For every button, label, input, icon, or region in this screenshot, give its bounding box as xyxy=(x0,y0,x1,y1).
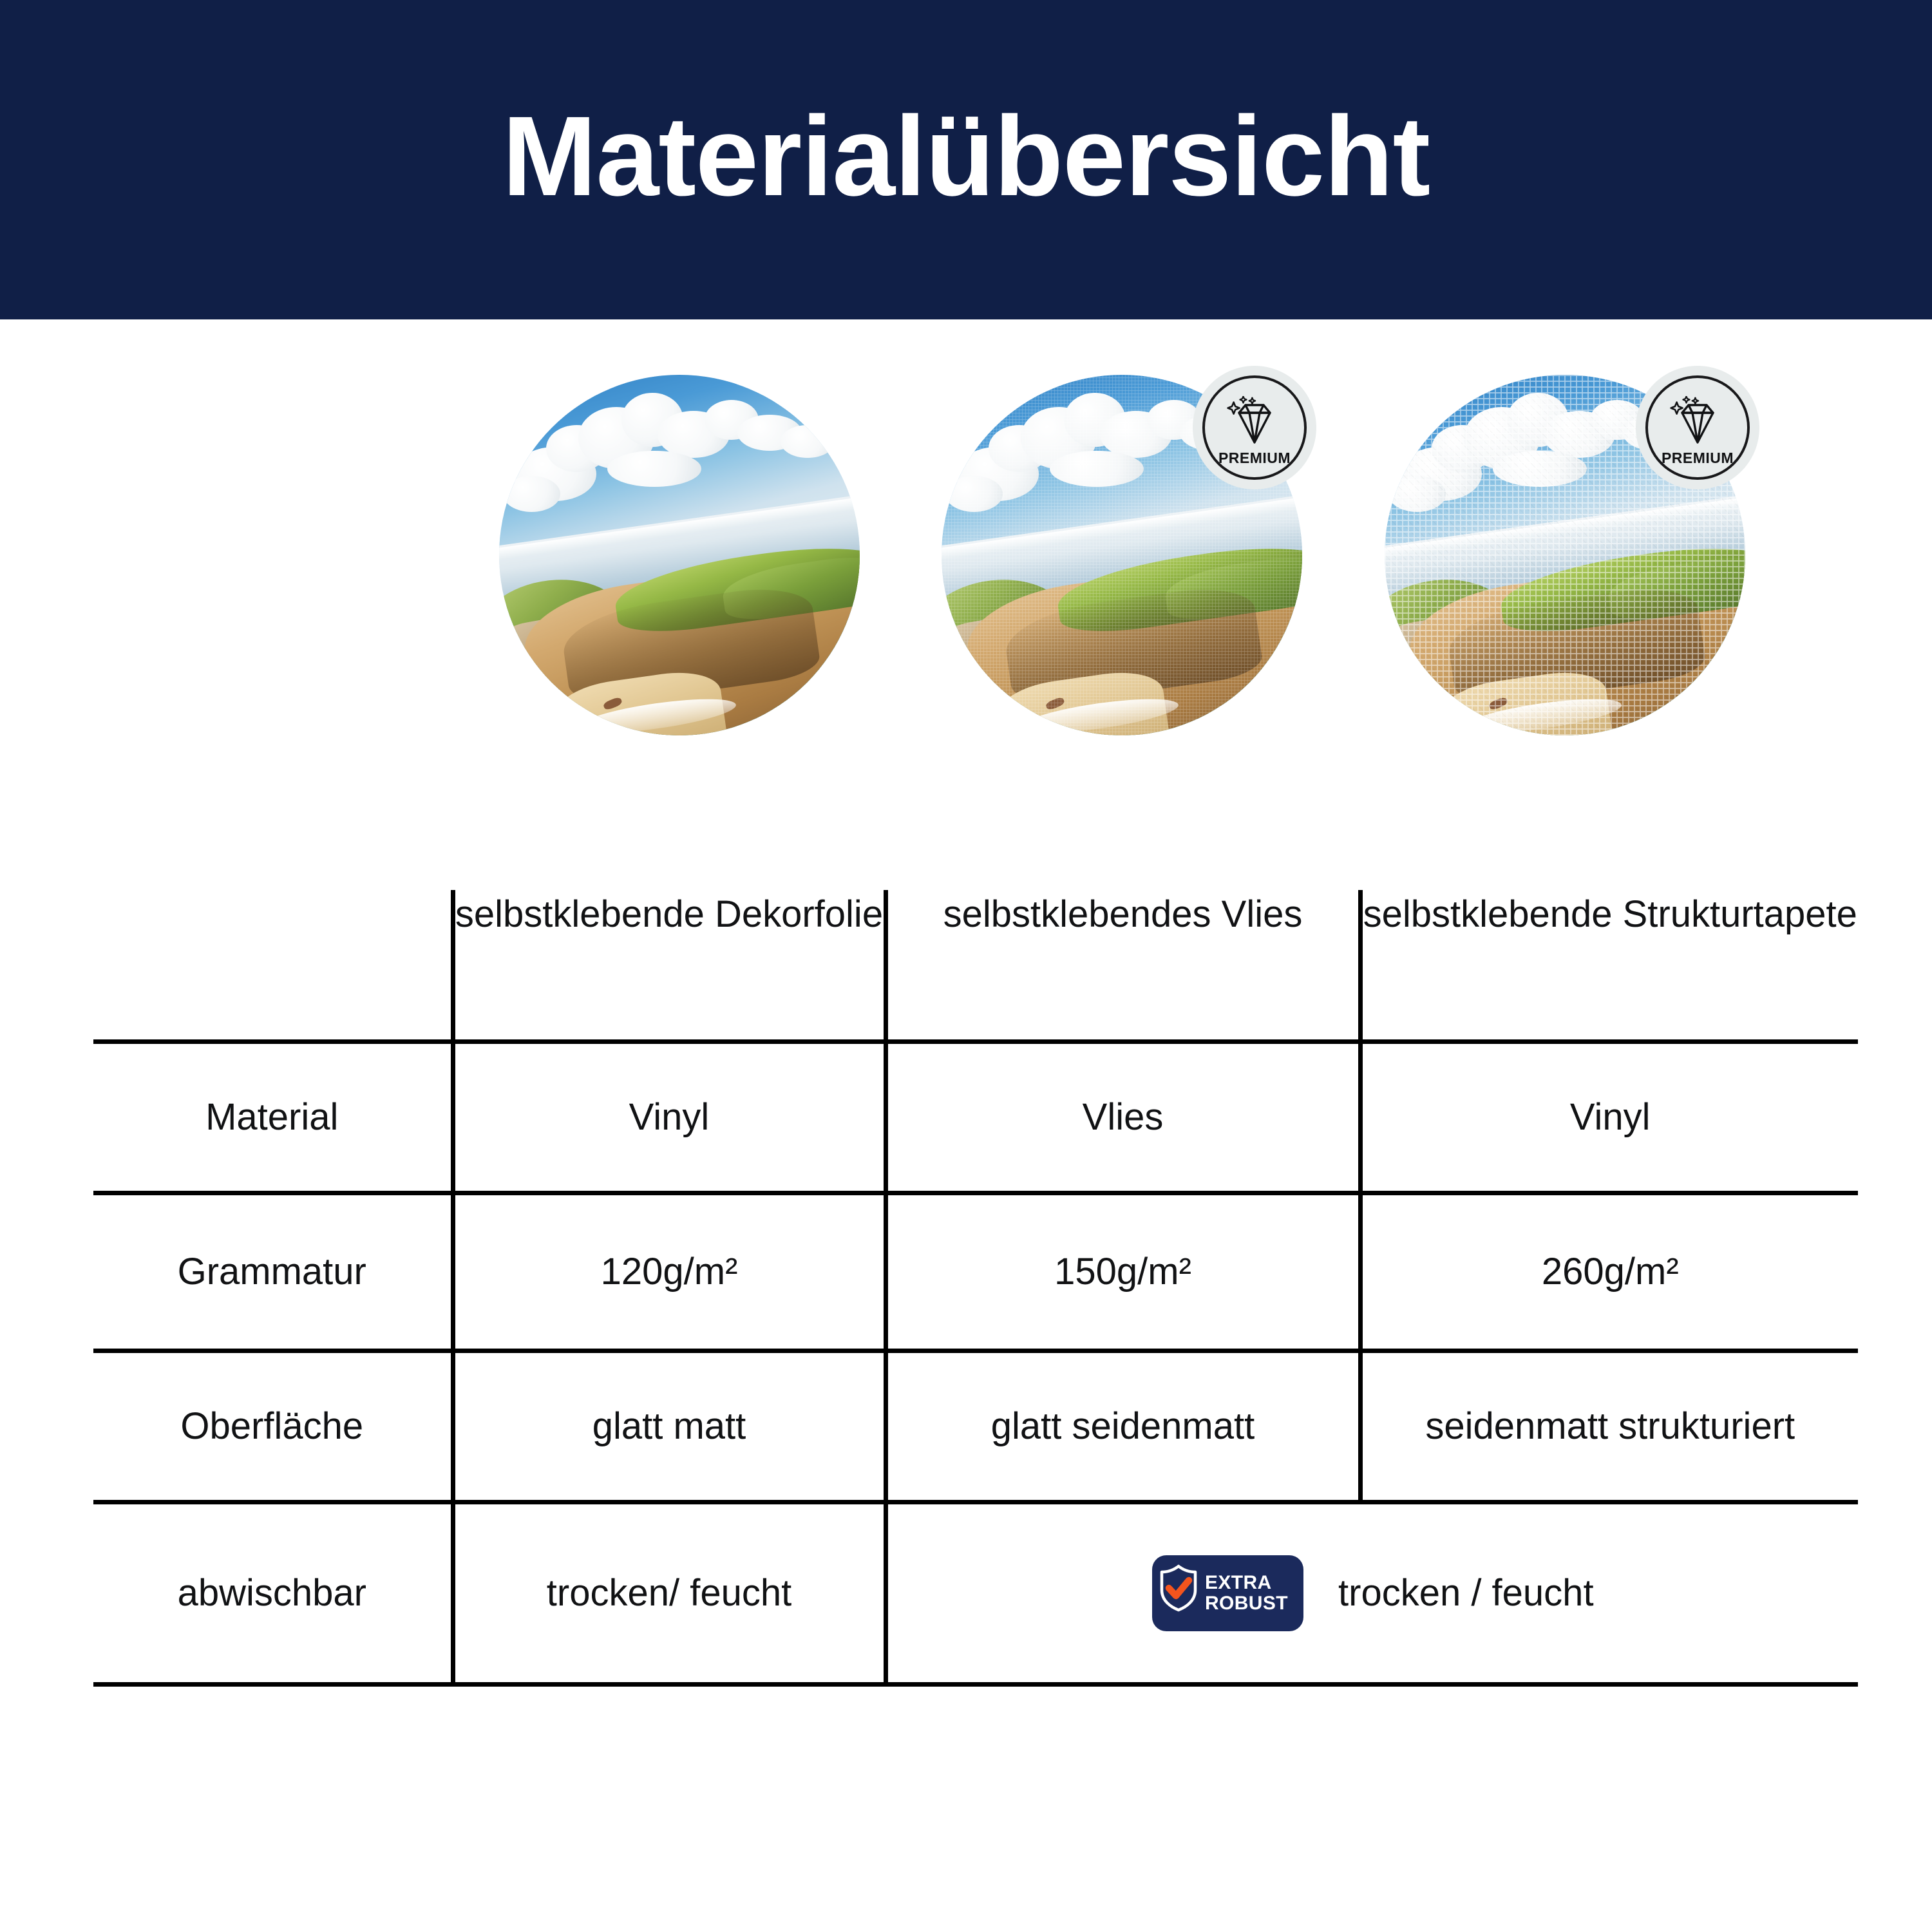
premium-badge-vlies: PREMIUM xyxy=(1193,366,1316,489)
cell-abwischbar-merged: EXTRA ROBUST trocken / feucht xyxy=(885,1502,1858,1685)
cell-oberflaeche-dekorfolie: glatt matt xyxy=(453,1351,885,1502)
row-label-abwischbar: abwischbar xyxy=(93,1502,453,1685)
shield-check-icon xyxy=(1159,1564,1198,1622)
sample-photo-dekorfolie xyxy=(499,375,860,735)
table-row: Oberfläche glatt matt glatt seidenmatt s… xyxy=(93,1351,1858,1502)
cell-grammatur-vlies: 150g/m² xyxy=(885,1193,1360,1351)
table-row: Grammatur 120g/m² 150g/m² 260g/m² xyxy=(93,1193,1858,1351)
row-label-grammatur: Grammatur xyxy=(93,1193,453,1351)
cell-abwischbar-dekorfolie: trocken/ feucht xyxy=(453,1502,885,1685)
page-title: Materialübersicht xyxy=(502,100,1430,213)
column-header-dekorfolie: selbstklebende Dekorfolie xyxy=(453,890,885,1042)
cell-oberflaeche-strukturtapete: seidenmatt strukturiert xyxy=(1360,1351,1858,1502)
extra-robust-badge: EXTRA ROBUST xyxy=(1152,1555,1303,1631)
column-header-strukturtapete: selbstklebende Strukturtapete xyxy=(1360,890,1858,1042)
table-corner-cell xyxy=(93,890,453,1042)
page-header: Materialübersicht xyxy=(0,0,1932,319)
premium-badge-label: PREMIUM xyxy=(1662,451,1734,466)
row-label-oberflaeche: Oberfläche xyxy=(93,1351,453,1502)
table-row: abwischbar trocken/ feucht EXTRA ROB xyxy=(93,1502,1858,1685)
material-spec-table: selbstklebende Dekorfolie selbstklebende… xyxy=(93,890,1858,1687)
sample-strukturtapete[interactable]: PREMIUM xyxy=(1385,375,1745,735)
cell-material-dekorfolie: Vinyl xyxy=(453,1042,885,1193)
cell-grammatur-strukturtapete: 260g/m² xyxy=(1360,1193,1858,1351)
column-header-vlies: selbstklebendes Vlies xyxy=(885,890,1360,1042)
sample-dekorfolie[interactable] xyxy=(499,375,860,735)
cell-abwischbar-value-merged: trocken / feucht xyxy=(1338,1571,1594,1615)
table-header-row: selbstklebende Dekorfolie selbstklebende… xyxy=(93,890,1858,1042)
cell-material-vlies: Vlies xyxy=(885,1042,1360,1193)
cell-grammatur-dekorfolie: 120g/m² xyxy=(453,1193,885,1351)
premium-badge-label: PREMIUM xyxy=(1218,451,1291,466)
premium-badge-strukturtapete: PREMIUM xyxy=(1636,366,1759,489)
cell-oberflaeche-vlies: glatt seidenmatt xyxy=(885,1351,1360,1502)
diamond-icon xyxy=(1225,396,1284,449)
cell-material-strukturtapete: Vinyl xyxy=(1360,1042,1858,1193)
extra-robust-line1: EXTRA xyxy=(1205,1573,1288,1593)
row-label-material: Material xyxy=(93,1042,453,1193)
extra-robust-line2: ROBUST xyxy=(1205,1593,1288,1614)
material-samples: PREMIUM xyxy=(0,349,1932,761)
diamond-icon xyxy=(1668,396,1727,449)
table-row: Material Vinyl Vlies Vinyl xyxy=(93,1042,1858,1193)
sample-vlies[interactable]: PREMIUM xyxy=(942,375,1302,735)
